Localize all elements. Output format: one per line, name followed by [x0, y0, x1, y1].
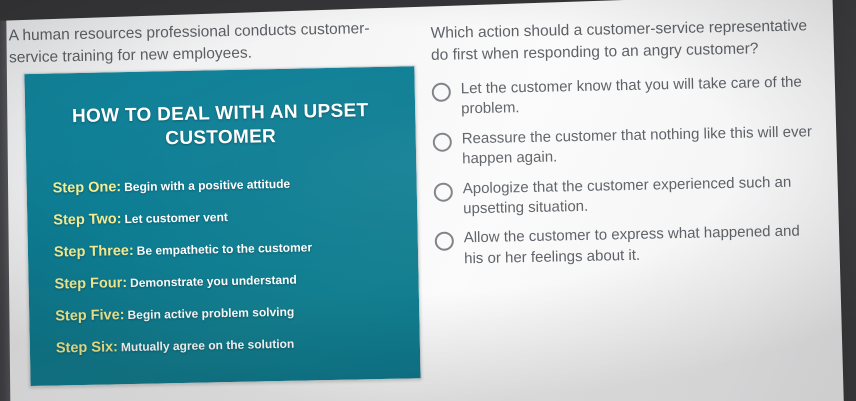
poster-step-item: Step Six:Mutually agree on the solution [56, 332, 420, 357]
question-column: Which action should a customer-service r… [430, 15, 819, 279]
radio-button-icon[interactable] [432, 82, 451, 101]
poster-step-item: Step Five:Begin active problem solving [55, 300, 419, 325]
poster-step-list: Step One:Begin with a positive attitude … [52, 172, 419, 357]
screenshot-root: A human resources professional conducts … [0, 0, 856, 401]
radio-button-icon[interactable] [434, 182, 453, 201]
answer-option-label: Allow the customer to express what happe… [464, 221, 820, 269]
question-stem: A human resources professional conducts … [8, 17, 409, 69]
answer-option-label: Reassure the customer that nothing like … [462, 122, 818, 170]
poster-step-text: Begin active problem solving [127, 304, 294, 321]
poster-step-label: Step Two: [53, 211, 122, 228]
poster-step-item: Step One:Begin with a positive attitude [52, 172, 416, 197]
poster-step-item: Step Four:Demonstrate you understand [54, 268, 418, 293]
poster-step-label: Step One: [53, 179, 122, 196]
poster-step-text: Let customer vent [124, 210, 228, 226]
poster-step-text: Mutually agree on the solution [121, 336, 295, 353]
question-prompt: Which action should a customer-service r… [430, 15, 815, 68]
poster-step-item: Step Three:Be empathetic to the customer [54, 236, 418, 261]
answer-option-label: Apologize that the customer experienced … [463, 172, 819, 220]
radio-button-icon[interactable] [435, 232, 454, 251]
answer-option-1[interactable]: Let the customer know that you will take… [432, 72, 817, 120]
poster-step-text: Begin with a positive attitude [124, 176, 290, 193]
poster-title: HOW TO DEAL WITH AN UPSET CUSTOMER [43, 99, 398, 154]
poster-step-text: Be empathetic to the customer [137, 240, 313, 258]
poster-step-item: Step Two:Let customer vent [53, 204, 417, 229]
answer-option-label: Let the customer know that you will take… [461, 72, 817, 120]
poster-step-label: Step Three: [54, 242, 134, 260]
poster-step-text: Demonstrate you understand [130, 272, 297, 289]
poster-panel: HOW TO DEAL WITH AN UPSET CUSTOMER Step … [23, 65, 421, 387]
poster-step-label: Step Four: [54, 275, 127, 292]
answer-option-2[interactable]: Reassure the customer that nothing like … [433, 122, 818, 170]
content-layer: A human resources professional conducts … [0, 0, 856, 401]
answer-option-4[interactable]: Allow the customer to express what happe… [435, 221, 820, 269]
poster-step-label: Step Five: [55, 307, 125, 324]
radio-button-icon[interactable] [433, 132, 452, 151]
poster-step-label: Step Six: [56, 339, 118, 356]
answer-option-3[interactable]: Apologize that the customer experienced … [434, 172, 819, 220]
